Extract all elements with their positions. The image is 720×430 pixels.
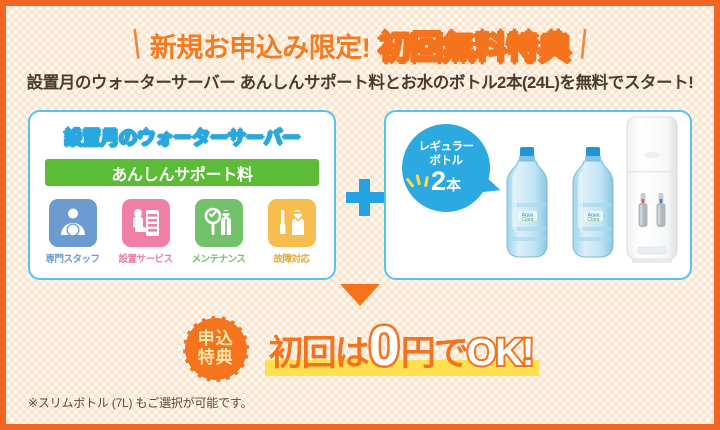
offer-prefix-text: 初回は (269, 325, 368, 376)
support-card-title: 設置月のウォーターサーバー (30, 123, 334, 150)
offer-row: 申込 特典 初回は 0 円で OK! (6, 312, 714, 386)
headline-main-text: 新規お申込み限定! (150, 26, 371, 65)
staff-icon (49, 199, 97, 247)
feature-item-staff: 専門スタッフ (43, 199, 103, 265)
headline: \ 新規お申込み限定! 初回無料特典 / (6, 24, 714, 66)
repair-icon (268, 199, 316, 247)
water-dispenser-icon (624, 115, 680, 272)
bubble-line-1: レギュラー (419, 141, 474, 153)
down-arrow-icon (340, 284, 380, 306)
svg-text:Clara: Clara (522, 217, 534, 223)
offer-currency-text: 円で (401, 325, 467, 376)
bubble-count-number: 2 (431, 168, 446, 195)
headline-slash-right: / (581, 25, 587, 65)
support-card: 設置月のウォーターサーバー あんしんサポート料 専門スタッフ (28, 110, 336, 280)
promotional-banner: \ 新規お申込み限定! 初回無料特典 / 設置月のウォーターサーバー あんしんサ… (0, 0, 720, 430)
subheading-text: 設置月のウォーターサーバー あんしんサポート料とお水のボトル2本(24L)を無料… (6, 69, 714, 93)
support-fee-bar: あんしんサポート料 (45, 159, 319, 186)
feature-item-installation: 設置サービス (116, 199, 176, 265)
support-fee-label: あんしんサポート料 (111, 161, 252, 185)
water-bottle-icon: Aqua Clara (562, 145, 624, 266)
feature-label-installation: 設置サービス (116, 251, 176, 265)
badge-line-1: 申込 (198, 330, 234, 349)
feature-label-repair: 故障対応 (262, 251, 322, 265)
installation-icon (122, 199, 170, 247)
svg-text:Clara: Clara (588, 217, 600, 223)
feature-list: 専門スタッフ 設置サービス (30, 199, 334, 265)
headline-slash-left: \ (133, 25, 140, 65)
bubble-line-2: ボトル (430, 155, 463, 167)
offer-headline: 初回は 0 円で OK! (265, 321, 538, 378)
feature-item-maintenance: メンテナンス (189, 199, 249, 265)
bubble-count-unit: 本 (446, 178, 461, 193)
regular-bottle-bubble: レギュラー ボトル 2 本 (402, 124, 490, 212)
feature-label-staff: 専門スタッフ (43, 251, 103, 265)
feature-item-repair: 故障対応 (262, 199, 322, 265)
offer-ok-text: OK! (467, 332, 534, 375)
application-benefit-badge: 申込 特典 (183, 316, 249, 382)
bottles-card: レギュラー ボトル 2 本 (384, 110, 692, 280)
badge-line-2: 特典 (198, 349, 234, 368)
offer-zero-amount: 0 (369, 321, 400, 371)
maintenance-icon (195, 199, 243, 247)
feature-label-maintenance: メンテナンス (189, 251, 249, 265)
footnote-text: ※スリムボトル (7L) もご選択が可能です。 (28, 394, 252, 411)
headline-accent-text: 初回無料特典 (378, 21, 570, 69)
water-bottle-icon: Aqua Clara (496, 145, 558, 266)
sparkle-icon (411, 174, 429, 190)
plus-icon (346, 178, 384, 216)
bubble-count-group: 2 本 (431, 168, 461, 195)
